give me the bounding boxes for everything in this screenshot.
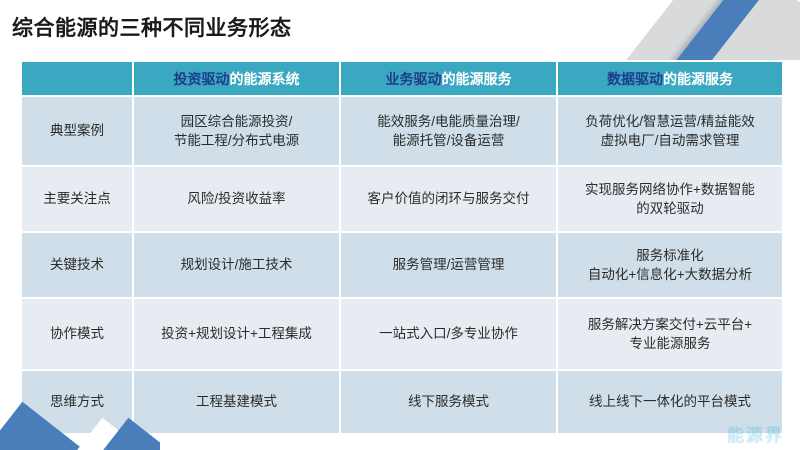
cell-r5c2: 工程基建模式 xyxy=(134,371,339,433)
watermark-logo: 能源界 xyxy=(727,421,784,446)
row-label-collaboration-mode: 协作模式 xyxy=(22,299,132,369)
table-row: 协作模式 投资+规划设计+工程集成 一站式入口/多专业协作 服务解决方案交付+云… xyxy=(22,299,782,369)
slide-canvas: 综合能源的三种不同业务形态 投资驱动的能源系统 业务驱动的能源服务 数据驱动的能… xyxy=(0,0,800,450)
table-row: 主要关注点 风险/投资收益率 客户价值的闭环与服务交付 实现服务网络协作+数据智… xyxy=(22,167,782,231)
cell-r1c4: 负荷优化/智慧运营/精益能效 虚拟电厂/自动需求管理 xyxy=(558,97,782,165)
cell-r3c2: 规划设计/施工技术 xyxy=(134,233,339,297)
header-plain-text: 的能源服务 xyxy=(663,71,733,87)
header-accent-text: 数据驱动 xyxy=(607,71,663,87)
header-plain-text: 的能源系统 xyxy=(230,71,300,87)
decoration-band-shadow xyxy=(648,0,766,60)
table-row: 关键技术 规划设计/施工技术 服务管理/运营管理 服务标准化 自动化+信息化+大… xyxy=(22,233,782,297)
cell-r2c2: 风险/投资收益率 xyxy=(134,167,339,231)
cell-r4c4: 服务解决方案交付+云平台+ 专业能源服务 xyxy=(558,299,782,369)
cell-r1c3: 能效服务/电能质量治理/ 能源托管/设备运营 xyxy=(341,97,556,165)
cell-r2c3: 客户价值的闭环与服务交付 xyxy=(341,167,556,231)
table-row: 典型案例 园区综合能源投资/ 节能工程/分布式电源 能效服务/电能质量治理/ 能… xyxy=(22,97,782,165)
header-accent-text: 投资驱动 xyxy=(174,71,230,87)
cell-r4c2: 投资+规划设计+工程集成 xyxy=(134,299,339,369)
row-label-typical-case: 典型案例 xyxy=(22,97,132,165)
header-accent-text: 业务驱动 xyxy=(386,71,442,87)
page-title: 综合能源的三种不同业务形态 xyxy=(12,12,292,42)
cell-r5c3: 线下服务模式 xyxy=(341,371,556,433)
row-label-mindset: 思维方式 xyxy=(22,371,132,433)
cell-r4c3: 一站式入口/多专业协作 xyxy=(341,299,556,369)
cell-r3c4: 服务标准化 自动化+信息化+大数据分析 xyxy=(558,233,782,297)
decoration-blue-band xyxy=(653,0,786,60)
business-forms-table-wrapper: 投资驱动的能源系统 业务驱动的能源服务 数据驱动的能源服务 典型案例 园区综合能… xyxy=(20,60,780,435)
header-plain-text: 的能源服务 xyxy=(442,71,512,87)
table-header-corner xyxy=(22,62,132,95)
table-header-data-driven: 数据驱动的能源服务 xyxy=(558,62,782,95)
row-label-main-focus: 主要关注点 xyxy=(22,167,132,231)
table-row: 思维方式 工程基建模式 线下服务模式 线上线下一体化的平台模式 xyxy=(22,371,782,433)
cell-r1c2: 园区综合能源投资/ 节能工程/分布式电源 xyxy=(134,97,339,165)
table-header-business-driven: 业务驱动的能源服务 xyxy=(341,62,556,95)
business-forms-table: 投资驱动的能源系统 业务驱动的能源服务 数据驱动的能源服务 典型案例 园区综合能… xyxy=(20,60,784,435)
decoration-gray-band xyxy=(600,0,800,60)
top-right-diagonal-decoration xyxy=(600,0,800,60)
table-header-row: 投资驱动的能源系统 业务驱动的能源服务 数据驱动的能源服务 xyxy=(22,62,782,95)
table-header-investment-driven: 投资驱动的能源系统 xyxy=(134,62,339,95)
cell-r3c3: 服务管理/运营管理 xyxy=(341,233,556,297)
cell-r2c4: 实现服务网络协作+数据智能 的双轮驱动 xyxy=(558,167,782,231)
row-label-key-technology: 关键技术 xyxy=(22,233,132,297)
